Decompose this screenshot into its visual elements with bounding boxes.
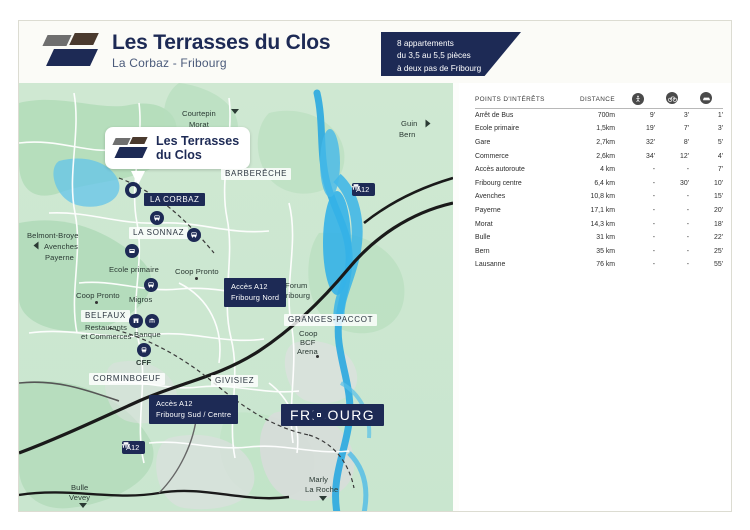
table-row: Payerne 17,1 km - - 20': [475, 204, 723, 218]
cell-distance: 31 km: [567, 231, 621, 245]
cell-walk: -: [621, 163, 655, 177]
table-header-distance: DISTANCE: [567, 92, 621, 108]
poi-table-panel: POINTS D'INTÉRÊTS DISTANCE: [459, 83, 732, 512]
map-label-bern-dir: Bern: [399, 130, 415, 139]
shop-icon: [132, 317, 140, 325]
cell-walk: -: [621, 244, 655, 258]
bus-icon: [190, 231, 198, 239]
cell-name: Avenches: [475, 190, 567, 204]
map-town-fribourg[interactable]: FRIBOURG: [281, 404, 384, 426]
cell-walk: -: [621, 231, 655, 245]
cell-walk: -: [621, 258, 655, 272]
page-subtitle: La Corbaz - Fribourg: [112, 56, 330, 70]
poi-marker-train-station[interactable]: [137, 343, 151, 357]
cell-bike: -: [655, 231, 689, 245]
map-point-dot: [95, 301, 98, 304]
brand: Les Terrasses du Clos La Corbaz - Fribou…: [45, 32, 330, 70]
cell-walk: 34': [621, 149, 655, 163]
map-label-marly: Marly: [309, 475, 328, 484]
cell-distance: 35 km: [567, 244, 621, 258]
cell-distance: 1,5km: [567, 122, 621, 136]
cell-walk: -: [621, 217, 655, 231]
header-ribbon: 8 appartements du 3,5 au 5,5 pièces à de…: [381, 32, 521, 76]
access-badge-line-1: Accès A12: [231, 282, 279, 293]
cell-name: Bern: [475, 244, 567, 258]
map-label-guin: Guin: [401, 119, 417, 128]
map-access-badge-nord[interactable]: Accès A12 Fribourg Nord: [224, 278, 286, 307]
cell-distance: 17,1 km: [567, 204, 621, 218]
terrasses-parallelogram-logo-icon: [45, 32, 99, 70]
map-label-cff: CFF: [136, 358, 151, 367]
brochure-page: Les Terrasses du Clos La Corbaz - Fribou…: [18, 20, 732, 512]
direction-arrow-icon: [79, 503, 87, 508]
cell-bike: 30': [655, 176, 689, 190]
highway-shield-a12-north[interactable]: A12: [352, 183, 375, 196]
access-badge-line-2: Fribourg Nord: [231, 293, 279, 304]
map-town-granges-paccot[interactable]: GRANGES-PACCOT: [284, 314, 377, 326]
cell-car: 55': [689, 258, 723, 272]
map-label-morat: Morat: [189, 120, 209, 129]
map-label-ecole-primaire: Ecole primaire: [109, 265, 159, 274]
poi-marker-shops[interactable]: [129, 314, 143, 328]
callout-line-1: Les Terrasses: [156, 134, 239, 148]
cell-name: Gare: [475, 136, 567, 150]
cell-distance: 6,4 km: [567, 176, 621, 190]
map-label-vevey: Vevey: [69, 493, 90, 502]
map-town-barbereche[interactable]: BARBERÊCHE: [221, 168, 291, 180]
cell-bike: -: [655, 217, 689, 231]
cell-car: 7': [689, 163, 723, 177]
table-row: Bulle 31 km - - 22': [475, 231, 723, 245]
bus-icon: [147, 281, 155, 289]
highway-shield-a12-south[interactable]: A12: [122, 441, 145, 454]
table-row: Bern 35 km - - 25': [475, 244, 723, 258]
pedestrian-icon: [632, 93, 644, 105]
ribbon-line-2: du 3,5 au 5,5 pièces: [397, 50, 511, 62]
landmark-icon: [315, 411, 323, 419]
cell-bike: 8': [655, 136, 689, 150]
page-header: Les Terrasses du Clos La Corbaz - Fribou…: [19, 21, 731, 83]
highway-shield-icon: [352, 183, 360, 191]
map-access-badge-sud[interactable]: Accès A12 Fribourg Sud / Centre: [149, 395, 238, 424]
map-label-commerces: et Commerces: [81, 332, 132, 341]
map-town-givisiez[interactable]: GIVISIEZ: [211, 375, 258, 387]
page-title: Les Terrasses du Clos: [112, 32, 330, 55]
ribbon-line-1: 8 appartements: [397, 38, 511, 50]
bicycle-icon: [666, 92, 678, 104]
cell-walk: 9': [621, 108, 655, 122]
cell-name: Morat: [475, 217, 567, 231]
map-point-dot: [195, 277, 198, 280]
table-row: Commerce 2,6km 34' 12' 4': [475, 149, 723, 163]
bank-icon: [148, 317, 156, 325]
cell-bike: -: [655, 244, 689, 258]
direction-arrow-icon: [34, 242, 39, 250]
map-label-coop-pronto-2: Coop Pronto: [175, 267, 219, 276]
cell-car: 25': [689, 244, 723, 258]
map-label-la-roche: La Roche: [305, 485, 338, 494]
bus-icon: [153, 214, 161, 222]
map-label-payerne: Payerne: [45, 253, 74, 262]
map-label-banque: Banque: [134, 330, 161, 339]
table-row: Lausanne 76 km - - 55': [475, 258, 723, 272]
cell-car: 22': [689, 231, 723, 245]
cell-bike: 3': [655, 108, 689, 122]
cell-distance: 10,8 km: [567, 190, 621, 204]
cell-bike: -: [655, 204, 689, 218]
points-of-interest-table: POINTS D'INTÉRÊTS DISTANCE: [475, 92, 723, 272]
poi-marker-school[interactable]: [125, 244, 139, 258]
table-header-walk: [621, 92, 655, 108]
table-header-row: POINTS D'INTÉRÊTS DISTANCE: [475, 92, 723, 108]
cell-walk: -: [621, 204, 655, 218]
cell-distance: 2,7km: [567, 136, 621, 150]
cell-name: Ecole primaire: [475, 122, 567, 136]
cell-name: Arrêt de Bus: [475, 108, 567, 122]
cell-bike: -: [655, 258, 689, 272]
table-body: Arrêt de Bus 700m 9' 3' 1' Ecole primair…: [475, 108, 723, 272]
cell-bike: -: [655, 190, 689, 204]
project-callout[interactable]: Les Terrasses du Clos: [105, 127, 250, 169]
map-label-coop-pronto-1: Coop Pronto: [76, 291, 120, 300]
map-town-corminboeuf[interactable]: CORMINBOEUF: [89, 373, 165, 385]
map-point-dot: [316, 355, 319, 358]
cell-name: Commerce: [475, 149, 567, 163]
map-label-migros: Migros: [129, 295, 152, 304]
poi-marker-bus[interactable]: [150, 211, 164, 225]
table-header-car: [689, 92, 723, 108]
cell-walk: 32': [621, 136, 655, 150]
cell-car: 18': [689, 217, 723, 231]
map-label-arena: Arena: [297, 347, 318, 356]
direction-arrow-icon: [319, 496, 327, 501]
highway-shield-icon: [122, 441, 130, 449]
poi-marker-bus-2[interactable]: [144, 278, 158, 292]
map-label-forum: Forum: [285, 281, 307, 290]
cell-car: 3': [689, 122, 723, 136]
cell-name: Fribourg centre: [475, 176, 567, 190]
map-label-courtepin: Courtepin: [182, 109, 216, 118]
cell-distance: 700m: [567, 108, 621, 122]
cell-distance: 2,6km: [567, 149, 621, 163]
cell-car: 10': [689, 176, 723, 190]
cell-car: 15': [689, 190, 723, 204]
map-town-la-corbaz[interactable]: LA CORBAZ: [144, 193, 205, 206]
map-label-belmont-broye: Belmont-Broye: [27, 231, 79, 240]
cell-name: Bulle: [475, 231, 567, 245]
cell-bike: 12': [655, 149, 689, 163]
direction-arrow-icon: [231, 109, 239, 114]
poi-marker-fribourg-center[interactable]: [312, 408, 326, 422]
cell-walk: -: [621, 190, 655, 204]
cell-car: 20': [689, 204, 723, 218]
cell-car: 1': [689, 108, 723, 122]
terrasses-parallelogram-logo-icon: [114, 136, 148, 160]
table-row: Avenches 10,8 km - - 15': [475, 190, 723, 204]
table-row: Accès autoroute 4 km - - 7': [475, 163, 723, 177]
train-icon: [140, 346, 148, 354]
callout-line-2: du Clos: [156, 148, 239, 162]
direction-arrow-icon: [426, 120, 431, 128]
ribbon-line-3: à deux pas de Fribourg: [397, 63, 511, 75]
cell-name: Payerne: [475, 204, 567, 218]
cell-name: Accès autoroute: [475, 163, 567, 177]
map-town-la-sonnaz[interactable]: LA SONNAZ: [129, 227, 188, 239]
table-row: Fribourg centre 6,4 km - 30' 10': [475, 176, 723, 190]
table-header-name: POINTS D'INTÉRÊTS: [475, 92, 567, 108]
table-header-bike: [655, 92, 689, 108]
cell-distance: 4 km: [567, 163, 621, 177]
cell-walk: -: [621, 176, 655, 190]
region-map[interactable]: Les Terrasses du Clos LA CORBAZ LA SONNA…: [19, 83, 453, 512]
access-badge-line-1: Accès A12: [156, 399, 231, 410]
access-badge-line-2: Fribourg Sud / Centre: [156, 410, 231, 421]
location-ring-pin-icon: [125, 182, 141, 198]
cell-car: 4': [689, 149, 723, 163]
map-town-belfaux[interactable]: BELFAUX: [81, 310, 130, 322]
table-row: Arrêt de Bus 700m 9' 3' 1': [475, 108, 723, 122]
car-icon: [700, 92, 712, 104]
table-row: Morat 14,3 km - - 18': [475, 217, 723, 231]
table-row: Ecole primaire 1,5km 19' 7' 3': [475, 122, 723, 136]
poi-marker-bus-3[interactable]: [187, 228, 201, 242]
cell-bike: 7': [655, 122, 689, 136]
map-label-bulle: Bulle: [71, 483, 88, 492]
cell-distance: 76 km: [567, 258, 621, 272]
poi-marker-bank[interactable]: [145, 314, 159, 328]
cell-distance: 14,3 km: [567, 217, 621, 231]
school-icon: [128, 247, 136, 255]
map-label-avenches: Avenches: [44, 242, 78, 251]
cell-name: Lausanne: [475, 258, 567, 272]
table-row: Gare 2,7km 32' 8' 5': [475, 136, 723, 150]
cell-car: 5': [689, 136, 723, 150]
cell-walk: 19': [621, 122, 655, 136]
cell-bike: -: [655, 163, 689, 177]
